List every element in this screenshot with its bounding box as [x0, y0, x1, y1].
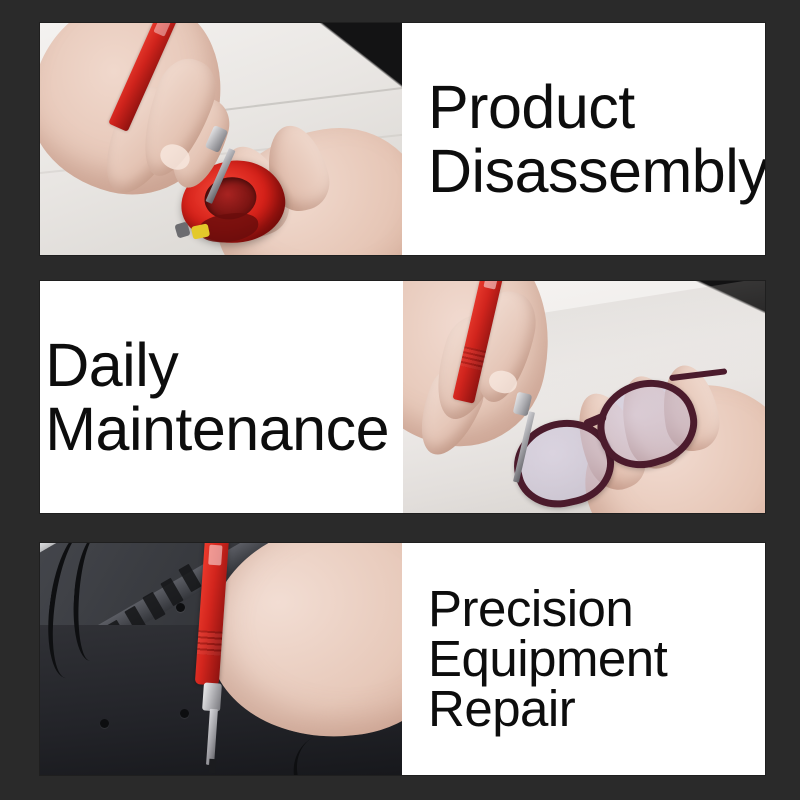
screwdriver-brand-logo	[483, 281, 499, 290]
daily-maintenance-photo	[403, 281, 765, 513]
screw-hole	[100, 719, 109, 728]
panel-headline-line-1: Product	[428, 75, 765, 139]
panel-headline-line-2: Equipment	[428, 634, 751, 684]
screwdriver-brand-logo	[153, 23, 170, 37]
panel-headline-line-2: Maintenance	[45, 397, 389, 461]
screwdriver-metal-collar	[202, 682, 222, 711]
daily-maintenance-text-block: Daily Maintenance	[40, 281, 403, 513]
screwdriver-tip	[209, 759, 217, 773]
product-disassembly-text-block: Product Disassembly	[402, 23, 765, 255]
feature-panel-daily-maintenance[interactable]: Daily Maintenance	[40, 281, 765, 513]
screwdriver-grip-rings	[197, 630, 223, 656]
screw-hole	[180, 709, 189, 718]
screwdriver-grip-rings	[460, 346, 486, 370]
feature-panel-product-disassembly[interactable]: Product Disassembly	[40, 23, 765, 255]
screw-hole	[176, 603, 185, 612]
panel-headline-line-1: Daily	[45, 333, 389, 397]
precision-equipment-repair-text-block: Precision Equipment Repair	[402, 543, 765, 775]
screwdriver-brand-logo	[208, 545, 222, 566]
feature-panels-stage: Product Disassembly	[0, 0, 800, 800]
panel-headline-line-1: Precision	[428, 584, 751, 634]
panel-headline-line-2: Disassembly	[428, 139, 765, 203]
precision-equipment-repair-photo	[40, 543, 402, 775]
panel-headline-line-3: Repair	[428, 684, 751, 734]
product-disassembly-photo	[40, 23, 402, 255]
feature-panel-precision-equipment-repair[interactable]: Precision Equipment Repair	[40, 543, 765, 775]
